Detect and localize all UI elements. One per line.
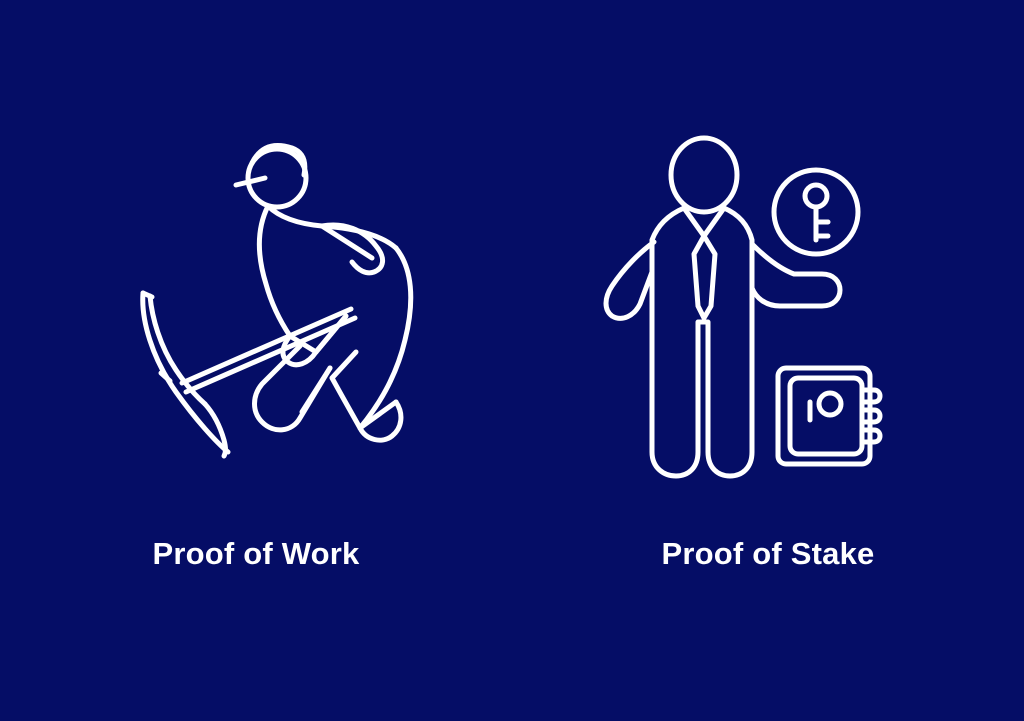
panel-proof-of-work: Proof of Work xyxy=(0,0,512,721)
caption-proof-of-work: Proof of Work xyxy=(0,534,512,574)
infographic-canvas: Proof of Work xyxy=(0,0,1024,721)
businessman-with-key-and-safe-icon xyxy=(512,0,1024,721)
businessman-arm-left xyxy=(606,242,654,318)
pickaxe-handle xyxy=(186,318,355,392)
miner-with-pickaxe-icon xyxy=(0,0,512,721)
pickaxe-head-spur xyxy=(161,373,170,381)
caption-proof-of-stake: Proof of Stake xyxy=(512,534,1024,574)
miner-leg-front-inner xyxy=(302,368,330,412)
miner-front-curve xyxy=(259,206,290,336)
businessman-head xyxy=(671,138,737,212)
businessman-necktie xyxy=(694,236,715,318)
key-glyph-bow xyxy=(805,185,827,207)
safe-dial xyxy=(819,393,841,415)
businessman-legs xyxy=(652,322,752,476)
businessman-torso-right xyxy=(724,208,752,330)
businessman-torso-left xyxy=(652,208,684,330)
miner-leg-back xyxy=(332,352,401,440)
panel-proof-of-stake: Proof of Stake xyxy=(512,0,1024,721)
